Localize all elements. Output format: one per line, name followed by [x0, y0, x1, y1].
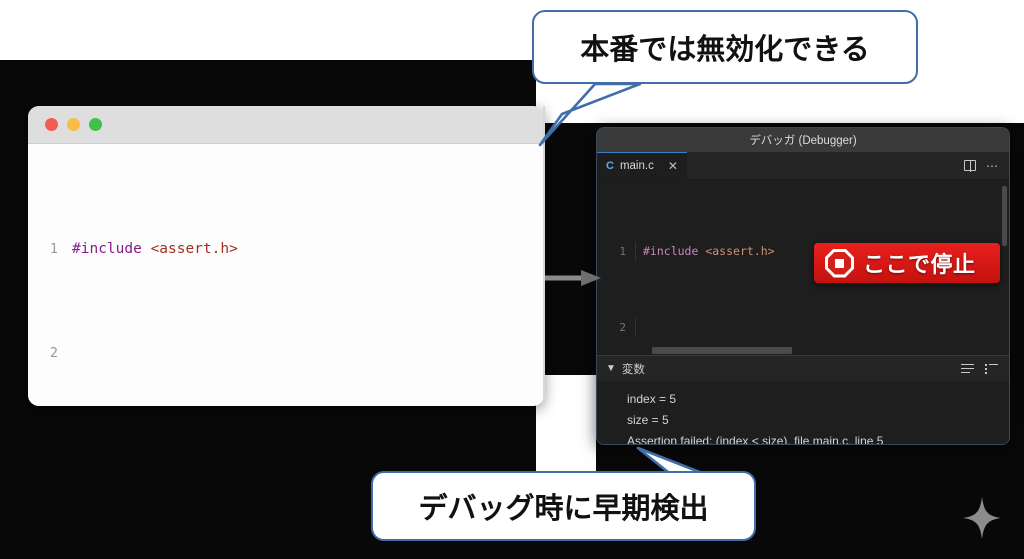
c-language-icon: C [606, 160, 614, 172]
line-number: 2 [28, 340, 72, 366]
tabbar-actions: ⋯ [964, 152, 1009, 179]
chevron-down-icon[interactable]: ▼ [606, 363, 616, 374]
sparkle-icon [962, 496, 1002, 540]
line-content: #include <assert.h> [72, 236, 544, 262]
callout-bottom-text: デバッグ時に早期検出 [418, 485, 708, 527]
close-button[interactable] [45, 118, 58, 131]
editor-code-area[interactable]: 1 #include <assert.h> 2 3 void process_a… [28, 144, 544, 406]
debugger-title-label: デバッガ (Debugger) [749, 132, 856, 148]
variable-entry: size = 5 [627, 410, 1009, 431]
slide-canvas: 1 #include <assert.h> 2 3 void process_a… [0, 0, 1024, 559]
tab-main-c[interactable]: C main.c ✕ [597, 152, 687, 179]
debugger-tabbar: C main.c ✕ ⋯ [597, 152, 1009, 180]
horizontal-scrollbar[interactable] [597, 346, 1009, 355]
debugger-window: デバッガ (Debugger) C main.c ✕ ⋯ 1 #include … [596, 127, 1010, 445]
detail-list-icon[interactable] [985, 364, 998, 374]
status-badge-label: ここで停止 [863, 247, 976, 279]
white-lower-gap [536, 375, 596, 475]
variables-panel-header[interactable]: ▼ 変数 [597, 355, 1009, 381]
line-number: 2 [613, 318, 635, 337]
stop-octagon-icon [825, 249, 854, 278]
scrollbar-thumb[interactable] [652, 347, 792, 354]
more-actions-icon[interactable]: ⋯ [986, 160, 998, 172]
code-editor-window: 1 #include <assert.h> 2 3 void process_a… [28, 106, 544, 406]
code-line: 1 #include <assert.h> [28, 236, 544, 262]
status-badge-stop-here: ここで停止 [814, 243, 1000, 283]
callout-bottom: デバッグ時に早期検出 [371, 471, 756, 541]
line-number: 1 [613, 242, 635, 261]
editor-titlebar [28, 106, 544, 144]
indent-guide [635, 318, 643, 337]
code-line: 2 [597, 318, 1009, 337]
minimize-button[interactable] [67, 118, 80, 131]
arrow-right-icon [545, 268, 601, 288]
variables-panel-title: 変数 [622, 361, 645, 377]
callout-top: 本番では無効化できる [532, 10, 918, 84]
sort-list-icon[interactable] [961, 364, 974, 374]
line-content [643, 318, 1009, 337]
tab-label: main.c [620, 160, 654, 172]
debugger-titlebar: デバッガ (Debugger) [597, 128, 1009, 152]
callout-top-text: 本番では無効化できる [580, 26, 869, 68]
close-icon[interactable]: ✕ [668, 159, 678, 173]
line-number: 1 [28, 236, 72, 262]
variable-entry: index = 5 [627, 389, 1009, 410]
indent-guide [635, 242, 643, 261]
maximize-button[interactable] [89, 118, 102, 131]
code-line: 2 [28, 340, 544, 366]
line-content [72, 340, 544, 366]
variables-panel-actions [961, 364, 998, 374]
vertical-scrollbar[interactable] [1002, 186, 1007, 246]
split-editor-icon[interactable] [964, 160, 976, 171]
